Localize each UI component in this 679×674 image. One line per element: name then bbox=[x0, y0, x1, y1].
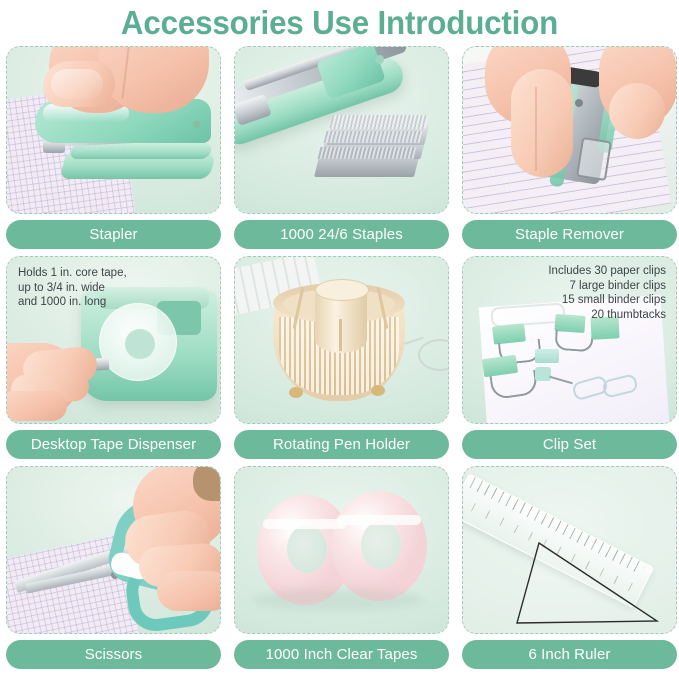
label-ruler[interactable]: 6 Inch Ruler bbox=[462, 640, 677, 669]
label-stapler[interactable]: Stapler bbox=[6, 220, 221, 249]
label-wrap-scissors: Scissors bbox=[2, 634, 225, 674]
label-wrap-stapler: Stapler bbox=[2, 214, 225, 254]
caption-tape-dispenser: Holds 1 in. core tape, up to 3/4 in. wid… bbox=[18, 266, 127, 310]
poster-root: Accessories Use Introduction bbox=[0, 0, 679, 672]
grid-cell-stapler: Stapler bbox=[2, 46, 225, 256]
grid-cell-pen-holder: Rotating Pen Holder bbox=[230, 256, 453, 466]
photo-tape-dispenser: Holds 1 in. core tape, up to 3/4 in. wid… bbox=[6, 256, 221, 424]
caption-clip-set: Includes 30 paper clips 7 large binder c… bbox=[548, 264, 666, 322]
label-wrap-clip-set: Clip Set bbox=[458, 424, 679, 464]
label-wrap-staples: 1000 24/6 Staples bbox=[230, 214, 453, 254]
label-wrap-clear-tapes: 1000 Inch Clear Tapes bbox=[230, 634, 453, 674]
label-staple-remover[interactable]: Staple Remover bbox=[462, 220, 677, 249]
label-clip-set[interactable]: Clip Set bbox=[462, 430, 677, 459]
page-title: Accessories Use Introduction bbox=[17, 0, 662, 46]
photo-staple-remover bbox=[462, 46, 677, 214]
photo-clip-set: Includes 30 paper clips 7 large binder c… bbox=[462, 256, 677, 424]
label-tape-dispenser[interactable]: Desktop Tape Dispenser bbox=[6, 430, 221, 459]
grid-cell-clip-set: Includes 30 paper clips 7 large binder c… bbox=[458, 256, 679, 466]
label-clear-tapes[interactable]: 1000 Inch Clear Tapes bbox=[234, 640, 449, 669]
grid-cell-tape-dispenser: Holds 1 in. core tape, up to 3/4 in. wid… bbox=[2, 256, 225, 466]
label-wrap-pen-holder: Rotating Pen Holder bbox=[230, 424, 453, 464]
label-scissors[interactable]: Scissors bbox=[6, 640, 221, 669]
photo-stapler bbox=[6, 46, 221, 214]
grid-cell-staples: 1000 24/6 Staples bbox=[230, 46, 453, 256]
set-square-shape bbox=[509, 541, 659, 631]
photo-pen-holder bbox=[234, 256, 449, 424]
grid-cell-clear-tapes: 1000 Inch Clear Tapes bbox=[230, 466, 453, 672]
label-wrap-ruler: 6 Inch Ruler bbox=[458, 634, 679, 674]
label-staples[interactable]: 1000 24/6 Staples bbox=[234, 220, 449, 249]
grid-cell-staple-remover: Staple Remover bbox=[458, 46, 679, 256]
photo-ruler bbox=[462, 466, 677, 634]
grid-cell-scissors: Scissors bbox=[2, 466, 225, 672]
label-wrap-staple-remover: Staple Remover bbox=[458, 214, 679, 254]
photo-scissors bbox=[6, 466, 221, 634]
label-pen-holder[interactable]: Rotating Pen Holder bbox=[234, 430, 449, 459]
accessory-grid: Stapler 1000 bbox=[0, 46, 679, 672]
photo-clear-tapes bbox=[234, 466, 449, 634]
label-wrap-tape-dispenser: Desktop Tape Dispenser bbox=[2, 424, 225, 464]
grid-cell-ruler: 6 Inch Ruler bbox=[458, 466, 679, 672]
photo-staples bbox=[234, 46, 449, 214]
